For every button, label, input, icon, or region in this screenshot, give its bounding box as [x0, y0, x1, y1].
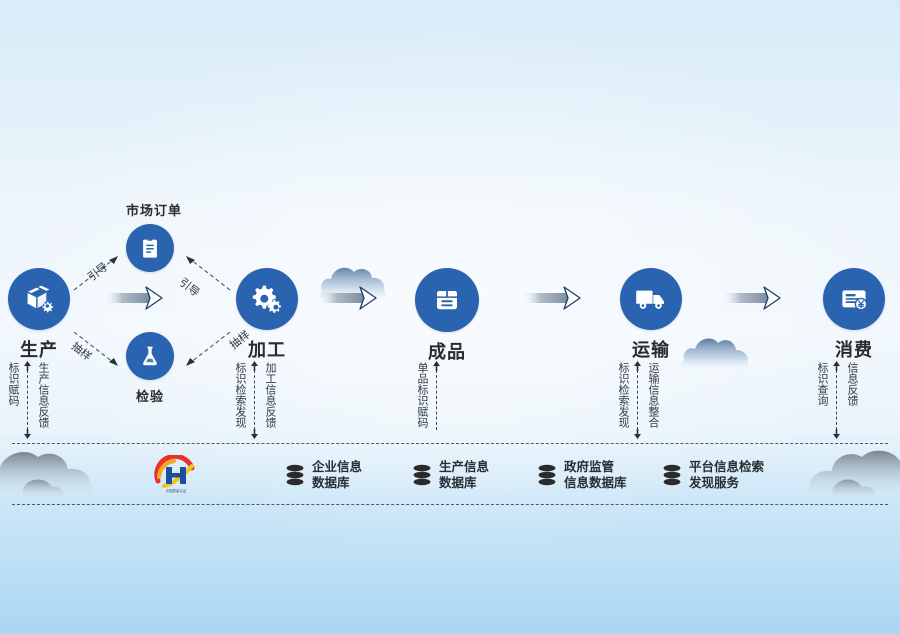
consumption-circle[interactable] — [823, 268, 885, 330]
database-item-production-line1: 生产信息 — [439, 459, 489, 475]
box-gear-icon — [22, 282, 56, 316]
feedback-production-left-label: 标识赋码 — [6, 362, 19, 406]
feedback-consumption-left-label: 标识查询 — [815, 362, 828, 406]
arrow-up-icon — [633, 361, 642, 371]
node-consumption-label: 消费 — [823, 336, 885, 362]
feedback-consumption-dashed-line — [832, 362, 841, 438]
database-item-government-line2: 信息数据库 — [564, 475, 627, 491]
database-item-production-text: 生产信息 数据库 — [439, 459, 489, 491]
feedback-transport-left-label: 标识检索发现 — [616, 362, 629, 428]
node-market-order[interactable]: 市场订单 — [126, 200, 174, 272]
transport-circle[interactable] — [620, 268, 682, 330]
feedback-finished-dashed-line — [432, 362, 441, 438]
cloud-decoration-left — [0, 447, 120, 501]
database-icon — [537, 464, 557, 486]
flow-arrow-finished-transport — [522, 283, 586, 313]
svg-text:中国质量认证: 中国质量认证 — [166, 488, 187, 493]
feedback-production-right-label: 生产信息反馈 — [36, 362, 49, 428]
feedback-transport: 标识检索发现 运输信息整合 — [616, 362, 659, 438]
node-production-label: 生产 — [8, 336, 70, 362]
flow-arrow-transport-consumption — [722, 283, 786, 313]
production-circle[interactable] — [8, 268, 70, 330]
clipboard-icon — [138, 236, 162, 260]
feedback-processing: 标识检索发现 加工信息反馈 — [233, 362, 276, 438]
feedback-transport-dashed-line — [633, 362, 642, 438]
platform-band-top-divider — [12, 443, 888, 444]
arrow-up-icon — [432, 361, 441, 371]
flask-icon — [138, 344, 162, 368]
feedback-production-dashed-line — [23, 362, 32, 438]
arrow-down-icon — [23, 429, 32, 439]
database-item-platform[interactable]: 平台信息检索 发现服务 — [662, 459, 764, 491]
feedback-consumption: 标识查询 信息反馈 — [815, 362, 858, 438]
database-item-government-text: 政府监管 信息数据库 — [564, 459, 627, 491]
database-item-enterprise-text: 企业信息 数据库 — [312, 459, 362, 491]
arrow-down-icon — [250, 429, 259, 439]
database-icon — [412, 464, 432, 486]
database-item-enterprise[interactable]: 企业信息 数据库 — [285, 459, 362, 491]
database-item-government-line1: 政府监管 — [564, 459, 627, 475]
database-item-platform-text: 平台信息检索 发现服务 — [689, 459, 764, 491]
node-inspection-label: 检验 — [126, 386, 174, 405]
gears-icon — [250, 282, 284, 316]
feedback-consumption-right-label: 信息反馈 — [845, 362, 858, 406]
database-item-government[interactable]: 政府监管 信息数据库 — [537, 459, 627, 491]
node-processing[interactable]: 加工 — [236, 268, 298, 362]
cloud-decoration-right — [782, 445, 900, 501]
truck-icon — [634, 282, 668, 316]
database-item-platform-line1: 平台信息检索 — [689, 459, 764, 475]
platform-band: 中国质量认证 企业信息 数据库 生产信息 数据库 — [0, 443, 900, 505]
receipt-yuan-icon — [837, 282, 871, 316]
node-finished-label: 成品 — [415, 338, 479, 364]
database-item-production[interactable]: 生产信息 数据库 — [412, 459, 489, 491]
feedback-processing-left-label: 标识检索发现 — [233, 362, 246, 428]
market-order-circle[interactable] — [126, 224, 174, 272]
node-production[interactable]: 生产 — [8, 268, 70, 362]
inspection-circle[interactable] — [126, 332, 174, 380]
arrow-up-icon — [832, 361, 841, 371]
flow-arrow-processing-finished — [318, 283, 382, 313]
arrow-up-icon — [250, 361, 259, 371]
cloud-decoration-2 — [680, 330, 752, 372]
node-finished[interactable]: 成品 — [415, 268, 479, 364]
node-inspection[interactable]: 检验 — [126, 332, 174, 405]
carton-icon — [431, 284, 463, 316]
arrow-down-icon — [633, 429, 642, 439]
node-consumption[interactable]: 消费 — [823, 268, 885, 362]
feedback-finished: 单品标识赋码 — [415, 362, 441, 438]
diagonal-arrow-inspection-to-processing — [176, 330, 232, 372]
node-transport-label: 运输 — [620, 336, 682, 362]
company-logo: 中国质量认证 — [152, 455, 200, 495]
node-transport[interactable]: 运输 — [620, 268, 682, 362]
feedback-processing-dashed-line — [250, 362, 259, 438]
platform-band-bottom-divider — [12, 504, 888, 505]
arrow-down-icon — [832, 429, 841, 439]
node-market-order-label: 市场订单 — [126, 200, 174, 219]
feedback-processing-right-label: 加工信息反馈 — [263, 362, 276, 428]
feedback-production: 标识赋码 生产信息反馈 — [6, 362, 49, 438]
database-item-enterprise-line2: 数据库 — [312, 475, 362, 491]
processing-circle[interactable] — [236, 268, 298, 330]
database-icon — [662, 464, 682, 486]
diagram-canvas: 生产 市场订单 检验 — [0, 0, 900, 634]
arrow-up-icon — [23, 361, 32, 371]
feedback-finished-left-label: 单品标识赋码 — [415, 362, 428, 428]
database-item-production-line2: 数据库 — [439, 475, 489, 491]
database-icon — [285, 464, 305, 486]
finished-circle[interactable] — [415, 268, 479, 332]
database-item-enterprise-line1: 企业信息 — [312, 459, 362, 475]
database-item-platform-line2: 发现服务 — [689, 475, 764, 491]
feedback-transport-right-label: 运输信息整合 — [646, 362, 659, 428]
